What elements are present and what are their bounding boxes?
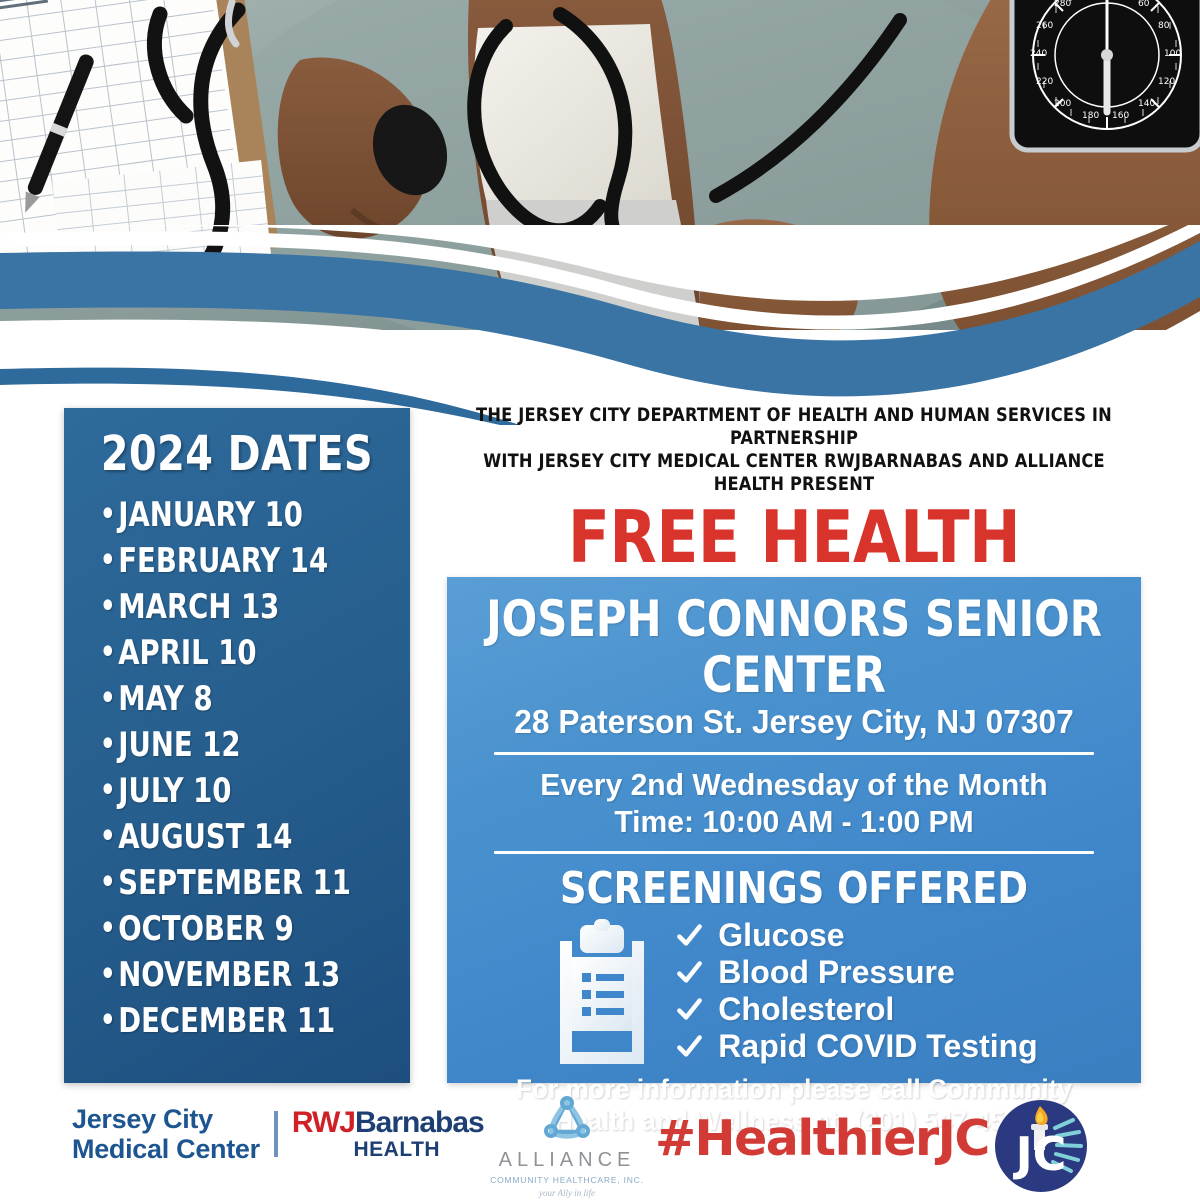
bullet-glyph: •	[100, 819, 116, 854]
check-icon	[676, 922, 703, 949]
svg-text:280: 280	[1054, 0, 1071, 9]
screenings-row: Glucose Blood Pressure Cholesterol Rapid…	[447, 917, 1141, 1065]
check-icon	[676, 959, 703, 986]
bullet-glyph: •	[100, 497, 116, 532]
jcmc-rwj-logo: Jersey City Medical Center RWJBarnabas H…	[72, 1104, 484, 1164]
logo-divider	[274, 1111, 278, 1157]
rwj-navy-text: Barnabas	[355, 1106, 484, 1139]
date-label: AUGUST 14	[118, 817, 292, 857]
dates-panel-title: 2024 DATES	[78, 426, 396, 482]
alliance-subtitle: COMMUNITY HEALTHCARE, INC.	[487, 1175, 647, 1185]
date-item: •APRIL 10	[100, 630, 379, 676]
bullet-glyph: •	[100, 957, 116, 992]
svg-text:260: 260	[1036, 21, 1053, 31]
date-item: •JUNE 12	[100, 722, 379, 768]
svg-text:80: 80	[1158, 21, 1170, 31]
alliance-tagline: your Ally in life	[487, 1188, 647, 1198]
event-info-panel: JOSEPH CONNORS SENIOR CENTER 28 Paterson…	[447, 577, 1141, 1083]
screenings-list: Glucose Blood Pressure Cholesterol Rapid…	[676, 917, 1037, 1065]
bullet-glyph: •	[100, 727, 116, 762]
date-label: DECEMBER 11	[118, 1001, 335, 1041]
date-label: MARCH 13	[118, 587, 279, 627]
hashtag-healthierjc: #HealthierJC	[655, 1110, 989, 1167]
date-item: •AUGUST 14	[100, 814, 379, 860]
footer-logos: Jersey City Medical Center RWJBarnabas H…	[0, 1090, 1200, 1200]
dates-list: •JANUARY 10 •FEBRUARY 14 •MARCH 13 •APRI…	[64, 488, 410, 1044]
svg-text:240: 240	[1030, 49, 1047, 59]
jersey-city-seal-icon: JC	[993, 1098, 1089, 1194]
svg-text:220: 220	[1036, 77, 1053, 87]
jcmc-line-1: Jersey City	[72, 1104, 260, 1134]
check-icon	[676, 1033, 703, 1060]
date-item: •OCTOBER 9	[100, 906, 379, 952]
date-label: OCTOBER 9	[118, 909, 294, 949]
screening-label: Glucose	[718, 917, 844, 954]
jcmc-wordmark: Jersey City Medical Center	[72, 1104, 260, 1164]
bullet-glyph: •	[100, 865, 116, 900]
bullet-glyph: •	[100, 589, 116, 624]
date-item: •DECEMBER 11	[100, 998, 379, 1044]
check-icon	[676, 996, 703, 1023]
presenter-line-1: THE JERSEY CITY DEPARTMENT OF HEALTH AND…	[464, 404, 1123, 450]
dates-panel: 2024 DATES •JANUARY 10 •FEBRUARY 14 •MAR…	[64, 408, 410, 1083]
venue-address: 28 Paterson St. Jersey City, NJ 07307	[461, 703, 1127, 741]
svg-text:160: 160	[1112, 111, 1129, 121]
event-time: Time: 10:00 AM - 1:00 PM	[457, 803, 1130, 840]
date-label: FEBRUARY 14	[118, 541, 328, 581]
screenings-offered-title: SCREENINGS OFFERED	[471, 865, 1116, 913]
bullet-glyph: •	[100, 543, 116, 578]
flyer-canvas: 6080 100120 140160 180200 220240 260280 …	[0, 0, 1200, 1200]
date-label: SEPTEMBER 11	[118, 863, 351, 903]
date-label: JUNE 12	[118, 725, 240, 765]
bullet-glyph: •	[100, 681, 116, 716]
alliance-logo: ALLIANCE COMMUNITY HEALTHCARE, INC. your…	[487, 1096, 647, 1198]
divider-rule-top	[494, 752, 1094, 755]
svg-text:60: 60	[1138, 0, 1150, 9]
date-label: NOVEMBER 13	[118, 955, 340, 995]
date-item: •MAY 8	[100, 676, 379, 722]
alliance-star-icon	[537, 1096, 597, 1142]
rwjbarnabas-wordmark: RWJBarnabas HEALTH	[292, 1108, 484, 1160]
svg-text:140: 140	[1138, 99, 1155, 109]
svg-text:200: 200	[1054, 99, 1071, 109]
screening-label: Rapid COVID Testing	[718, 1028, 1037, 1065]
bullet-glyph: •	[100, 773, 116, 808]
bullet-glyph: •	[100, 1003, 116, 1038]
date-label: JULY 10	[118, 771, 231, 811]
bullet-glyph: •	[100, 635, 116, 670]
svg-text:180: 180	[1082, 111, 1099, 121]
svg-text:120: 120	[1158, 77, 1175, 87]
date-label: MAY 8	[118, 679, 212, 719]
event-schedule: Every 2nd Wednesday of the Month	[457, 766, 1130, 803]
date-item: •NOVEMBER 13	[100, 952, 379, 998]
screening-item: Rapid COVID Testing	[676, 1028, 1037, 1065]
presenter-line-2: WITH JERSEY CITY MEDICAL CENTER RWJBARNA…	[464, 450, 1123, 496]
screening-label: Cholesterol	[718, 991, 894, 1028]
date-item: •SEPTEMBER 11	[100, 860, 379, 906]
screening-item: Cholesterol	[676, 991, 1037, 1028]
screening-label: Blood Pressure	[718, 954, 955, 991]
alliance-name: ALLIANCE	[487, 1149, 647, 1172]
date-item: •FEBRUARY 14	[100, 538, 379, 584]
date-item: •JULY 10	[100, 768, 379, 814]
divider-rule-bottom	[494, 851, 1094, 854]
svg-text:100: 100	[1164, 49, 1181, 59]
rwj-red-text: RWJ	[292, 1106, 355, 1139]
clipboard-icon	[550, 919, 654, 1064]
screening-item: Glucose	[676, 917, 1037, 954]
wave-divider	[0, 225, 1200, 425]
rwj-top-line: RWJBarnabas	[292, 1108, 484, 1138]
bullet-glyph: •	[100, 911, 116, 946]
jc-seal-label: JC	[1013, 1127, 1067, 1181]
date-label: JANUARY 10	[118, 495, 303, 535]
date-item: •JANUARY 10	[100, 492, 379, 538]
photo-bp-gauge: 6080 100120 140160 180200 220240 260280 …	[1012, 0, 1200, 150]
date-label: APRIL 10	[118, 633, 256, 673]
jcmc-line-2: Medical Center	[72, 1134, 260, 1164]
venue-name: JOSEPH CONNORS SENIOR CENTER	[471, 591, 1116, 703]
screening-item: Blood Pressure	[676, 954, 1037, 991]
date-item: •MARCH 13	[100, 584, 379, 630]
rwj-health-text: HEALTH	[310, 1139, 484, 1160]
